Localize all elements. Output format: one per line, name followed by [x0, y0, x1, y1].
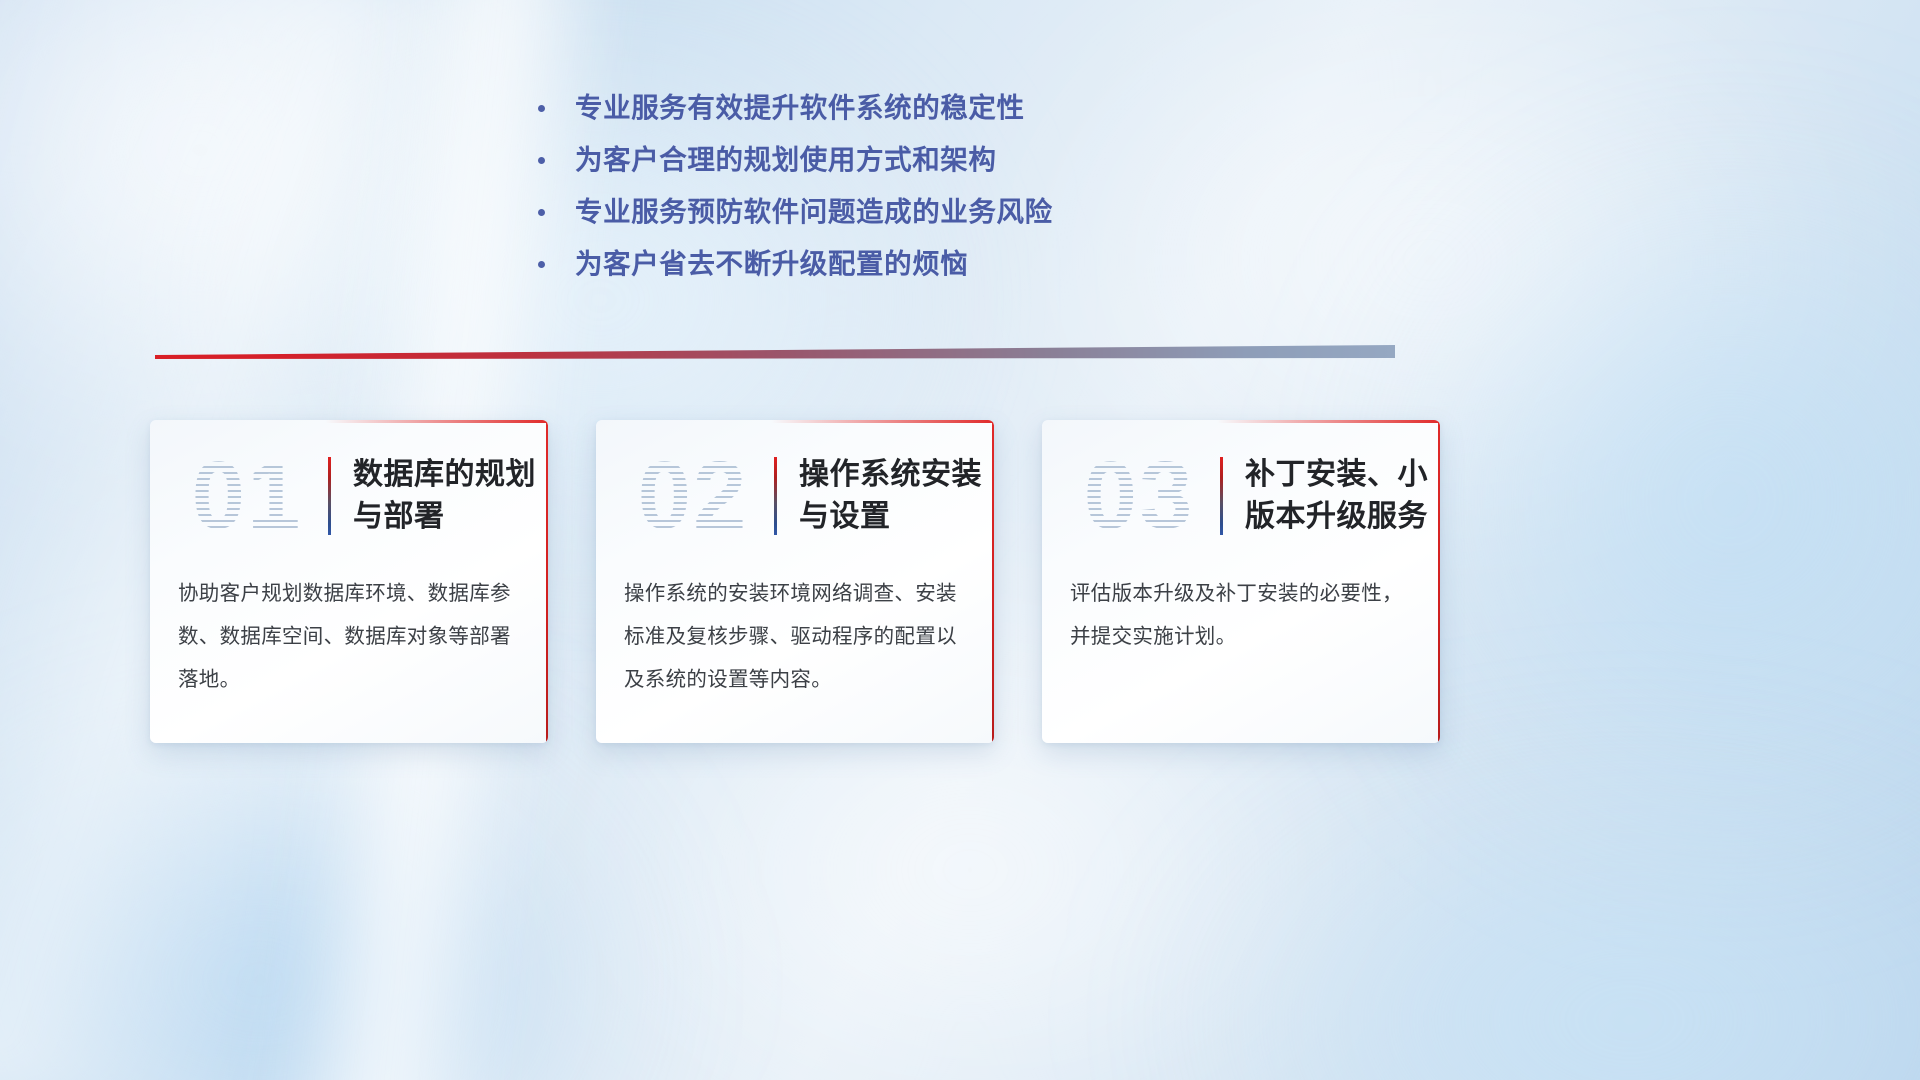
gradient-wedge-divider	[155, 345, 1395, 367]
card-divider-bar	[774, 457, 777, 535]
bullet-text: 为客户省去不断升级配置的烦恼	[575, 244, 968, 284]
bullet-text: 专业服务预防软件问题造成的业务风险	[575, 192, 1053, 232]
list-item: 专业服务有效提升软件系统的稳定性	[538, 88, 1298, 140]
card-header: 01 数据库的规划与部署	[150, 420, 548, 572]
card-title: 补丁安装、小版本升级服务	[1245, 454, 1440, 538]
card-number: 02	[618, 448, 768, 544]
bullet-dot-icon	[538, 209, 545, 216]
card-number: 03	[1064, 448, 1214, 544]
card-divider-bar	[1220, 457, 1223, 535]
bullet-dot-icon	[538, 261, 545, 268]
service-card[interactable]: 02 操作系统安装与设置 操作系统的安装环境网络调查、安装标准及复核步骤、驱动程…	[596, 420, 994, 743]
card-divider-bar	[328, 457, 331, 535]
service-card-list: 01 数据库的规划与部署 协助客户规划数据库环境、数据库参数、数据库空间、数据库…	[150, 420, 1440, 743]
card-header: 03 补丁安装、小版本升级服务	[1042, 420, 1440, 572]
benefits-bullet-list: 专业服务有效提升软件系统的稳定性 为客户合理的规划使用方式和架构 专业服务预防软…	[538, 88, 1298, 296]
list-item: 为客户省去不断升级配置的烦恼	[538, 244, 1298, 296]
card-header: 02 操作系统安装与设置	[596, 420, 994, 572]
card-body-text: 评估版本升级及补丁安装的必要性，并提交实施计划。	[1042, 572, 1440, 658]
list-item: 专业服务预防软件问题造成的业务风险	[538, 192, 1298, 244]
card-body-text: 协助客户规划数据库环境、数据库参数、数据库空间、数据库对象等部署落地。	[150, 572, 548, 701]
list-item: 为客户合理的规划使用方式和架构	[538, 140, 1298, 192]
bullet-text: 专业服务有效提升软件系统的稳定性	[575, 88, 1025, 128]
service-card[interactable]: 03 补丁安装、小版本升级服务 评估版本升级及补丁安装的必要性，并提交实施计划。	[1042, 420, 1440, 743]
card-number: 01	[172, 448, 322, 544]
service-card[interactable]: 01 数据库的规划与部署 协助客户规划数据库环境、数据库参数、数据库空间、数据库…	[150, 420, 548, 743]
bullet-dot-icon	[538, 105, 545, 112]
card-title: 操作系统安装与设置	[799, 454, 994, 538]
bullet-text: 为客户合理的规划使用方式和架构	[575, 140, 997, 180]
card-title: 数据库的规划与部署	[353, 454, 548, 538]
card-body-text: 操作系统的安装环境网络调查、安装标准及复核步骤、驱动程序的配置以及系统的设置等内…	[596, 572, 994, 701]
bullet-dot-icon	[538, 157, 545, 164]
